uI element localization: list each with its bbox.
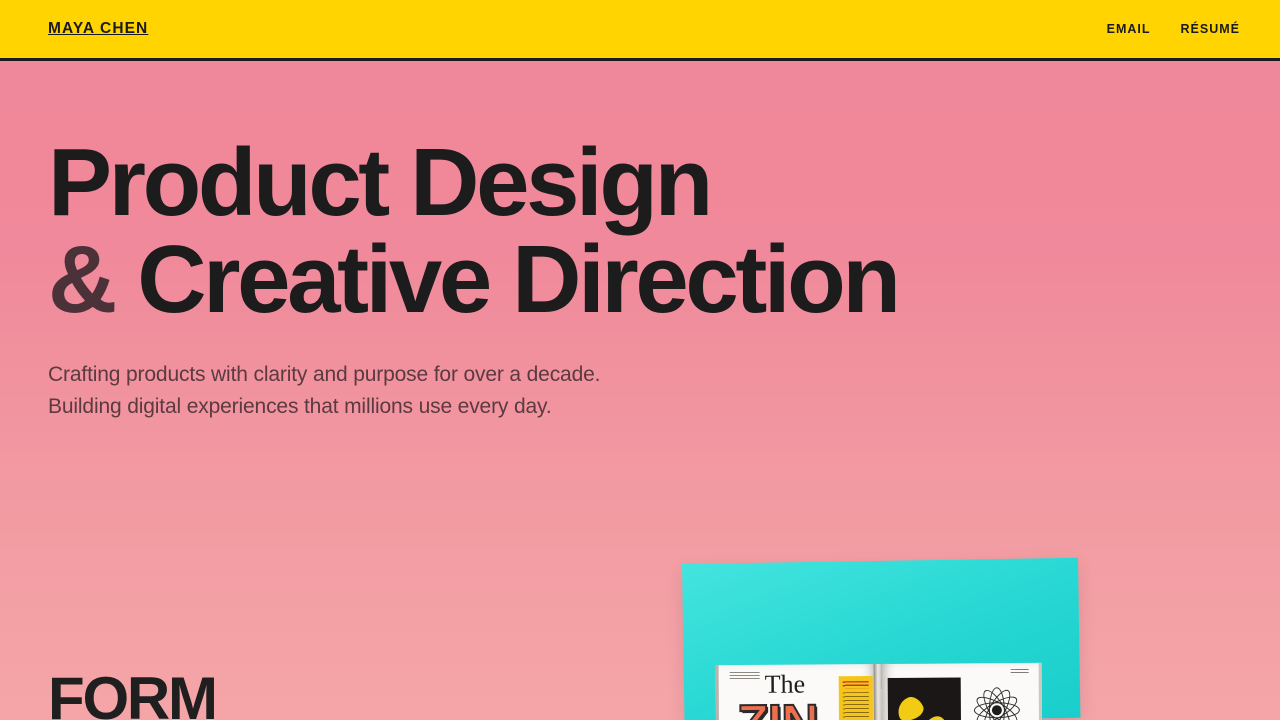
section-heading-form: FORM (48, 668, 216, 720)
black-artwork-panel (888, 677, 962, 720)
sidebar-heading-lines (843, 681, 869, 688)
magazine-right-page (882, 663, 1043, 720)
sidebar-body-lines (843, 692, 870, 720)
nav-link-resume[interactable]: RÉSUMÉ (1181, 22, 1240, 36)
brand-logo[interactable]: MAYA CHEN (48, 20, 148, 38)
magazine-title-text: ZIN (737, 697, 818, 720)
page-number-lines (1011, 669, 1029, 675)
subtitle-line-2: Building digital experiences that millio… (48, 395, 552, 418)
pear-shape-small-icon (894, 693, 927, 720)
atom-diagram-icon (970, 683, 1024, 720)
site-header: MAYA CHEN EMAIL RÉSUMÉ (0, 0, 1280, 61)
open-magazine: The ZIN (716, 663, 1047, 720)
subtitle-line-1: Crafting products with clarity and purpo… (48, 363, 600, 386)
hero-section: Product Design & Creative Direction Craf… (0, 61, 1280, 423)
page-title: Product Design & Creative Direction (48, 134, 1280, 328)
magazine-photo: The ZIN (682, 564, 1080, 720)
primary-navigation: EMAIL RÉSUMÉ (1107, 22, 1240, 36)
left-page-kicker-lines (730, 672, 760, 680)
magazine-yellow-sidebar (839, 676, 874, 720)
atom-nucleus-icon (992, 705, 1002, 715)
headline-ampersand: & (48, 226, 114, 333)
hero-subtitle: Crafting products with clarity and purpo… (48, 359, 1280, 423)
headline-line-1: Product Design (48, 129, 710, 236)
magazine-left-page: The ZIN (716, 664, 877, 720)
headline-line-2: Creative Direction (114, 226, 898, 333)
nav-link-email[interactable]: EMAIL (1107, 22, 1151, 36)
